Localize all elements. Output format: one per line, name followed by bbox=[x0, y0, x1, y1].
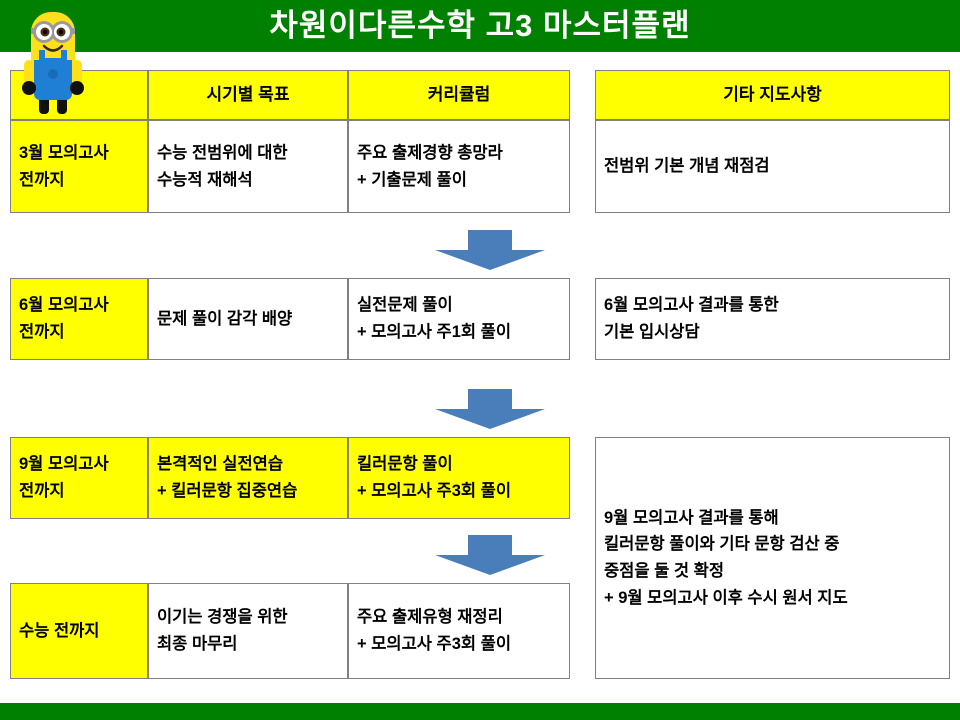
table-row-goal-1: 수능 전범위에 대한 수능적 재해석 bbox=[148, 120, 348, 213]
right-table-cell-3: 9월 모의고사 결과를 통해 킬러문항 풀이와 기타 문항 검산 중 중점을 둘… bbox=[595, 437, 950, 679]
table-row-goal-4: 이기는 경쟁을 위한 최종 마무리 bbox=[148, 583, 348, 679]
period-line: 3월 모의고사 bbox=[19, 140, 139, 167]
curriculum-line: 킬러문항 풀이 bbox=[357, 451, 561, 478]
curriculum-line: + 모의고사 주3회 풀이 bbox=[357, 478, 561, 505]
note-line: + 9월 모의고사 이후 수시 원서 지도 bbox=[604, 585, 941, 612]
curriculum-line: + 모의고사 주1회 풀이 bbox=[357, 319, 561, 346]
flow-arrow-3 bbox=[435, 535, 545, 575]
footer-bar bbox=[0, 703, 960, 720]
left-table-header-curriculum: 커리큘럼 bbox=[348, 70, 570, 120]
minion-icon bbox=[20, 2, 86, 120]
down-arrow-icon bbox=[435, 535, 545, 575]
right-table-cell-2: 6월 모의고사 결과를 통한 기본 입시상담 bbox=[595, 278, 950, 360]
note-line: 9월 모의고사 결과를 통해 bbox=[604, 505, 941, 532]
table-row-period-3: 9월 모의고사 전까지 bbox=[10, 437, 148, 519]
goal-line: 이기는 경쟁을 위한 bbox=[157, 604, 339, 631]
curriculum-line: + 기출문제 풀이 bbox=[357, 167, 561, 194]
table-row-goal-3: 본격적인 실전연습 + 킬러문항 집중연습 bbox=[148, 437, 348, 519]
table-row-period-4: 수능 전까지 bbox=[10, 583, 148, 679]
goal-line: 수능 전범위에 대한 bbox=[157, 140, 339, 167]
minion-character bbox=[20, 2, 86, 120]
flow-arrow-2 bbox=[435, 389, 545, 429]
right-table-cell-1: 전범위 기본 개념 재점검 bbox=[595, 120, 950, 213]
left-table-header-goal: 시기별 목표 bbox=[148, 70, 348, 120]
note-line: 6월 모의고사 결과를 통한 bbox=[604, 292, 941, 319]
table-row-curriculum-2: 실전문제 풀이 + 모의고사 주1회 풀이 bbox=[348, 278, 570, 360]
table-row-curriculum-4: 주요 출제유형 재정리 + 모의고사 주3회 풀이 bbox=[348, 583, 570, 679]
period-line: 전까지 bbox=[19, 167, 139, 194]
goal-line: 문제 풀이 감각 배양 bbox=[157, 306, 339, 333]
table-row-goal-2: 문제 풀이 감각 배양 bbox=[148, 278, 348, 360]
note-line: 킬러문항 풀이와 기타 문항 검산 중 bbox=[604, 531, 941, 558]
table-row-period-2: 6월 모의고사 전까지 bbox=[10, 278, 148, 360]
curriculum-line: 주요 출제경향 총망라 bbox=[357, 140, 561, 167]
note-line: 중점을 둘 것 확정 bbox=[604, 558, 941, 585]
period-line: 전까지 bbox=[19, 319, 139, 346]
goal-line: + 킬러문항 집중연습 bbox=[157, 478, 339, 505]
table-row-period-1: 3월 모의고사 전까지 bbox=[10, 120, 148, 213]
curriculum-line: 실전문제 풀이 bbox=[357, 292, 561, 319]
curriculum-line: 주요 출제유형 재정리 bbox=[357, 604, 561, 631]
goal-line: 수능적 재해석 bbox=[157, 167, 339, 194]
note-line: 기본 입시상담 bbox=[604, 319, 941, 346]
table-row-curriculum-1: 주요 출제경향 총망라 + 기출문제 풀이 bbox=[348, 120, 570, 213]
down-arrow-icon bbox=[435, 389, 545, 429]
period-line: 전까지 bbox=[19, 478, 139, 505]
period-line: 6월 모의고사 bbox=[19, 292, 139, 319]
right-table-header: 기타 지도사항 bbox=[595, 70, 950, 120]
period-line: 9월 모의고사 bbox=[19, 451, 139, 478]
table-row-curriculum-3: 킬러문항 풀이 + 모의고사 주3회 풀이 bbox=[348, 437, 570, 519]
page-title: 차원이다른수학 고3 마스터플랜 bbox=[0, 0, 960, 52]
goal-line: 최종 마무리 bbox=[157, 631, 339, 658]
down-arrow-icon bbox=[435, 230, 545, 270]
curriculum-line: + 모의고사 주3회 풀이 bbox=[357, 631, 561, 658]
flow-arrow-1 bbox=[435, 230, 545, 270]
goal-line: 본격적인 실전연습 bbox=[157, 451, 339, 478]
note-line: 전범위 기본 개념 재점검 bbox=[604, 153, 941, 180]
period-line: 수능 전까지 bbox=[19, 618, 139, 645]
